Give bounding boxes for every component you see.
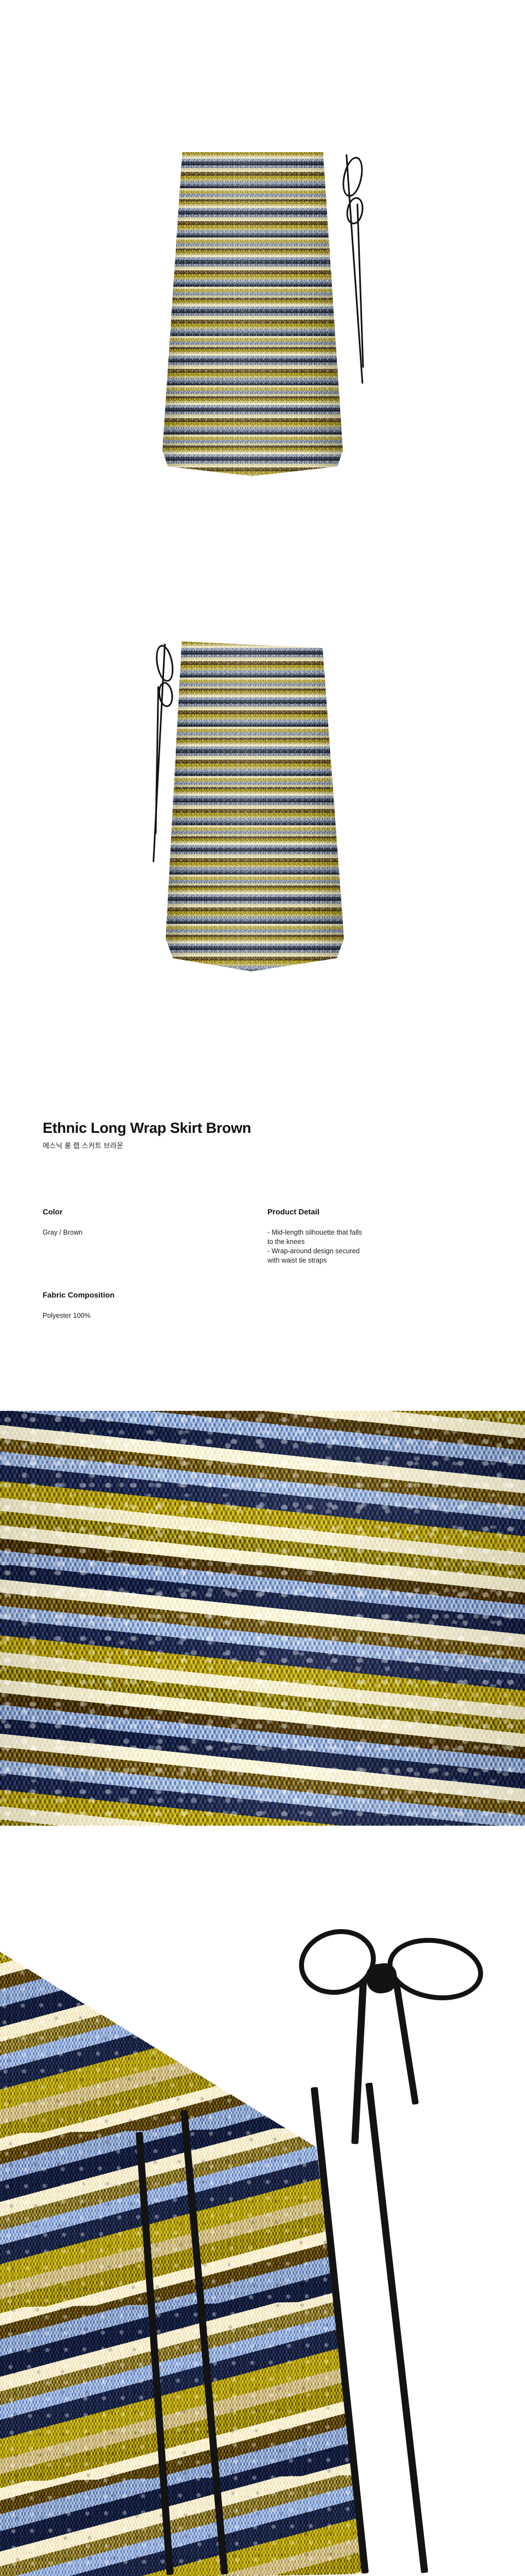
fabric-closeup-photo[interactable] — [0, 1411, 525, 1826]
page-subtitle-korean: 에스닉 롱 랩 스커트 브라운 — [43, 1140, 124, 1150]
spec-heading-product-detail: Product Detail — [267, 1207, 319, 1216]
ribbon-tail-d — [365, 2082, 428, 2573]
grosgrain-bow — [295, 1923, 525, 2142]
page-title: Ethnic Long Wrap Skirt Brown — [43, 1120, 251, 1137]
spec-value-product-detail: - Mid-length silhouette that falls to th… — [267, 1228, 362, 1265]
bow-tail-right — [393, 1979, 419, 2105]
product-detail-page: Ethnic Long Wrap Skirt Brown 에스닉 롱 랩 스커트… — [0, 0, 525, 2576]
spec-value-fabric-composition: Polyester 100% — [43, 1311, 91, 1321]
spec-heading-color: Color — [43, 1207, 63, 1216]
spec-heading-fabric-composition: Fabric Composition — [43, 1290, 114, 1299]
spec-value-color: Gray / Brown — [43, 1228, 83, 1237]
bow-loop-left — [291, 1920, 383, 2004]
fabric-closeup-vignette — [0, 1411, 525, 1826]
product-info-block: Ethnic Long Wrap Skirt Brown 에스닉 롱 랩 스커트… — [0, 0, 525, 1411]
tie-detail-photo[interactable] — [0, 1826, 525, 2576]
bow-tail-center — [351, 1980, 367, 2144]
